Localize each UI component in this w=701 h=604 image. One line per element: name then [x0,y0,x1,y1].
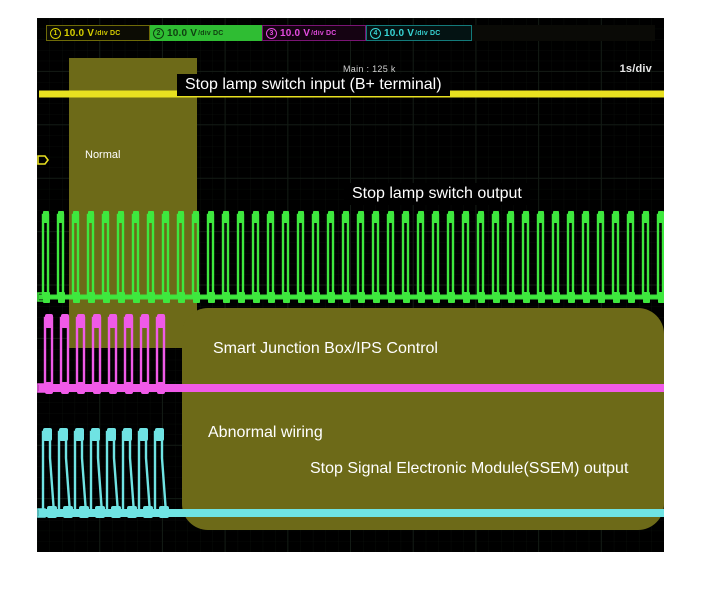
channel-status-bar: 1 10.0 V /div DC 2 10.0 V /div DC 3 10.0… [46,25,655,41]
record-length-readout: Main : 125 k [343,64,396,74]
annotation-stop-lamp-switch-output: Stop lamp switch output [344,183,530,205]
channel-1-unit: /div [95,30,108,37]
channel-3-readout[interactable]: 3 10.0 V /div DC [262,25,366,41]
ch4-ground-marker[interactable] [37,507,49,518]
channel-1-coupling: DC [110,30,121,37]
channel-4-coupling: DC [430,30,441,37]
channel-4-scale: 10.0 V [384,28,414,39]
status-bar-spacer [472,25,655,41]
ch1-ground-marker[interactable] [37,154,49,165]
channel-3-unit: /div [311,30,324,37]
channel-3-coupling: DC [326,30,337,37]
channel-2-coupling: DC [213,30,224,37]
channel-1-number-icon: 1 [50,28,61,39]
trace-ch2-green [39,211,664,303]
annotation-stop-lamp-switch-input: Stop lamp switch input (B+ terminal) [177,74,450,96]
channel-4-number-icon: 4 [370,28,381,39]
annotation-abnormal-wiring: Abnormal wiring [204,424,327,442]
ch2-ground-marker[interactable] [37,291,49,302]
channel-4-readout[interactable]: 4 10.0 V /div DC [366,25,472,41]
channel-3-scale: 10.0 V [280,28,310,39]
oscilloscope-screen: 1 10.0 V /div DC 2 10.0 V /div DC 3 10.0… [37,18,664,552]
ch3-ground-marker[interactable] [37,382,49,393]
timebase-readout: 1s/div [620,63,652,75]
annotation-smart-junction-box: Smart Junction Box/IPS Control [209,340,442,358]
channel-1-readout[interactable]: 1 10.0 V /div DC [46,25,150,41]
channel-2-readout[interactable]: 2 10.0 V /div DC [150,25,262,41]
annotation-ssem-output: Stop Signal Electronic Module(SSEM) outp… [306,460,632,478]
channel-1-scale: 10.0 V [64,28,94,39]
annotation-normal: Normal [85,149,120,162]
channel-2-scale: 10.0 V [167,28,197,39]
channel-4-unit: /div [415,30,428,37]
channel-3-number-icon: 3 [266,28,277,39]
channel-2-unit: /div [198,30,211,37]
channel-2-number-icon: 2 [153,28,164,39]
